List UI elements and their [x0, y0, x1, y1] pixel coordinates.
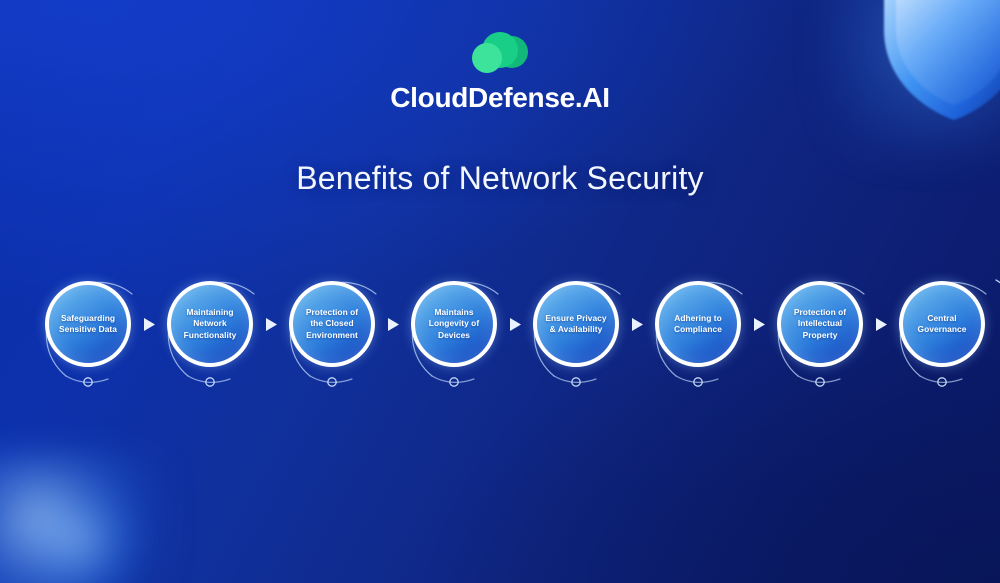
benefit-node-8[interactable]: CentralGovernance: [890, 272, 994, 392]
arrow-right-icon: [628, 272, 646, 392]
glow-blob-secondary-icon: [18, 498, 138, 583]
benefit-node-disc[interactable]: Adhering toCompliance: [655, 281, 741, 367]
brand-header: CloudDefense.AI: [0, 32, 1000, 114]
benefit-node-disc[interactable]: Protection ofthe ClosedEnvironment: [289, 281, 375, 367]
benefit-node-5[interactable]: Ensure Privacy& Availability: [524, 272, 628, 392]
benefit-node-disc[interactable]: SafeguardingSensitive Data: [45, 281, 131, 367]
benefit-node-label: MaintainsLongevity ofDevices: [429, 307, 479, 341]
arrow-right-icon: [262, 272, 280, 392]
brand-wordmark: CloudDefense.AI: [390, 82, 610, 114]
benefit-node-disc[interactable]: Protection ofIntellectualProperty: [777, 281, 863, 367]
arrow-right-icon: [872, 272, 890, 392]
benefit-node-6[interactable]: Adhering toCompliance: [646, 272, 750, 392]
benefit-node-disc[interactable]: Ensure Privacy& Availability: [533, 281, 619, 367]
benefit-node-disc[interactable]: MaintainsLongevity ofDevices: [411, 281, 497, 367]
benefit-node-label: Ensure Privacy& Availability: [545, 313, 606, 335]
benefit-node-disc[interactable]: MaintainingNetworkFunctionality: [167, 281, 253, 367]
arrow-right-icon: [750, 272, 768, 392]
page-title: Benefits of Network Security: [0, 160, 1000, 197]
infographic-canvas: CloudDefense.AI Benefits of Network Secu…: [0, 0, 1000, 583]
benefit-node-2[interactable]: MaintainingNetworkFunctionality: [158, 272, 262, 392]
benefit-node-label: Adhering toCompliance: [674, 313, 722, 335]
benefit-node-1[interactable]: SafeguardingSensitive Data: [36, 272, 140, 392]
benefit-node-label: Protection ofthe ClosedEnvironment: [306, 307, 358, 341]
arrow-right-icon: [384, 272, 402, 392]
glow-blob-icon: [0, 455, 168, 583]
benefit-node-disc[interactable]: CentralGovernance: [899, 281, 985, 367]
arrow-right-icon: [506, 272, 524, 392]
benefits-chain: SafeguardingSensitive Data MaintainingNe…: [36, 272, 996, 392]
benefit-node-label: Protection ofIntellectualProperty: [794, 307, 846, 341]
benefit-node-label: MaintainingNetworkFunctionality: [184, 307, 237, 341]
benefit-node-label: SafeguardingSensitive Data: [59, 313, 117, 335]
arrow-right-icon: [140, 272, 158, 392]
cloud-logo-icon: [467, 32, 533, 76]
benefit-node-label: CentralGovernance: [918, 313, 967, 335]
benefit-node-3[interactable]: Protection ofthe ClosedEnvironment: [280, 272, 384, 392]
benefit-node-4[interactable]: MaintainsLongevity ofDevices: [402, 272, 506, 392]
arrow-down-icon: [994, 272, 1000, 392]
benefit-node-7[interactable]: Protection ofIntellectualProperty: [768, 272, 872, 392]
